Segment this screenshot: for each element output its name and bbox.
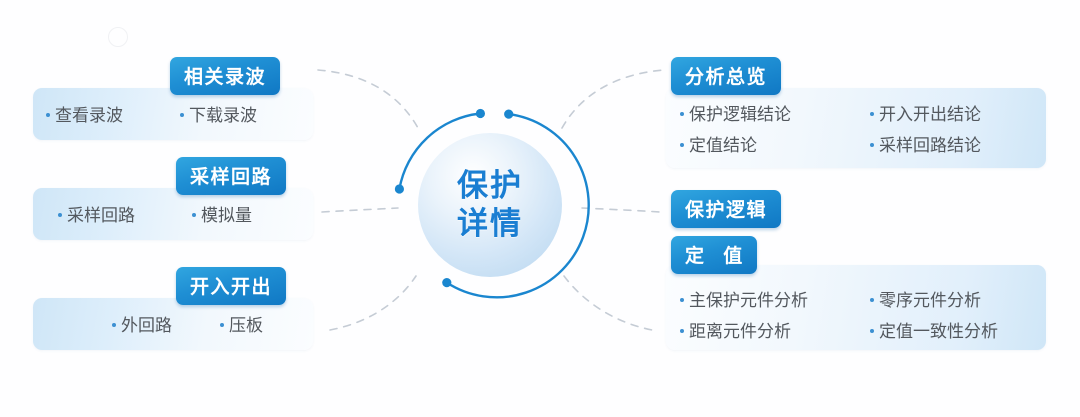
- list-item[interactable]: 下载录波: [180, 101, 288, 126]
- bullet-icon: [870, 112, 874, 116]
- badge-left-1[interactable]: 相关录波: [170, 57, 280, 95]
- list-item-label: 保护逻辑结论: [689, 100, 791, 125]
- hub-label-line1: 保护: [457, 167, 523, 205]
- bullet-icon: [870, 298, 874, 302]
- bullet-icon: [870, 143, 874, 147]
- list-item-label: 采样回路: [67, 201, 135, 226]
- list-item-label: 查看录波: [55, 101, 123, 126]
- connector-right-middle: [582, 208, 660, 212]
- list-item[interactable]: 定值一致性分析: [870, 317, 1040, 342]
- list-item[interactable]: 查看录波: [46, 101, 154, 126]
- list-item[interactable]: 定值结论: [680, 131, 870, 156]
- bullet-icon: [870, 329, 874, 333]
- list-item[interactable]: 零序元件分析: [870, 286, 1040, 311]
- list-item[interactable]: 开入开出结论: [870, 100, 1040, 125]
- items-right-1: 保护逻辑结论 开入开出结论 定值结论 采样回路结论: [680, 100, 1040, 156]
- list-item[interactable]: 主保护元件分析: [680, 286, 870, 311]
- list-item-label: 距离元件分析: [689, 317, 791, 342]
- list-item[interactable]: 外回路: [112, 311, 192, 336]
- list-item-label: 定值结论: [689, 131, 757, 156]
- list-item[interactable]: 采样回路结论: [870, 131, 1040, 156]
- diagram-canvas: 保护 详情 相关录波 查看录波 下载录波 采样回路 采样回路 模拟量 开入开出: [0, 0, 1080, 417]
- hub-label: 保护 详情: [390, 105, 590, 305]
- bullet-icon: [680, 329, 684, 333]
- items-left-2: 采样回路 模拟量: [58, 201, 308, 226]
- list-item[interactable]: 距离元件分析: [680, 317, 870, 342]
- bullet-icon: [46, 113, 50, 117]
- list-item-label: 零序元件分析: [879, 286, 981, 311]
- items-left-3: 外回路 压板: [112, 311, 312, 336]
- badge-left-2[interactable]: 采样回路: [176, 157, 286, 195]
- hub[interactable]: 保护 详情: [390, 105, 590, 305]
- bullet-icon: [680, 143, 684, 147]
- bullet-icon: [58, 213, 62, 217]
- bullet-icon: [680, 112, 684, 116]
- bullet-icon: [220, 323, 224, 327]
- list-item-label: 压板: [229, 311, 263, 336]
- bullet-icon: [192, 213, 196, 217]
- bullet-icon: [112, 323, 116, 327]
- list-item-label: 下载录波: [189, 101, 257, 126]
- badge-right-2[interactable]: 保护逻辑: [671, 190, 781, 228]
- bullet-icon: [680, 298, 684, 302]
- badge-right-3[interactable]: 定 值: [671, 236, 757, 274]
- list-item[interactable]: 采样回路: [58, 201, 166, 226]
- list-item-label: 采样回路结论: [879, 131, 981, 156]
- list-item-label: 外回路: [121, 311, 172, 336]
- list-item-label: 模拟量: [201, 201, 252, 226]
- connector-left-middle: [322, 208, 398, 212]
- list-item[interactable]: 压板: [220, 311, 263, 336]
- badge-left-3[interactable]: 开入开出: [176, 267, 286, 305]
- list-item[interactable]: 模拟量: [192, 201, 252, 226]
- items-left-1: 查看录波 下载录波: [46, 101, 306, 126]
- items-right-3: 主保护元件分析 零序元件分析 距离元件分析 定值一致性分析: [680, 286, 1046, 342]
- list-item[interactable]: 保护逻辑结论: [680, 100, 870, 125]
- hub-label-line2: 详情: [457, 205, 523, 243]
- list-item-label: 开入开出结论: [879, 100, 981, 125]
- badge-right-1[interactable]: 分析总览: [671, 57, 781, 95]
- bullet-icon: [180, 113, 184, 117]
- list-item-label: 主保护元件分析: [689, 286, 808, 311]
- list-item-label: 定值一致性分析: [879, 317, 998, 342]
